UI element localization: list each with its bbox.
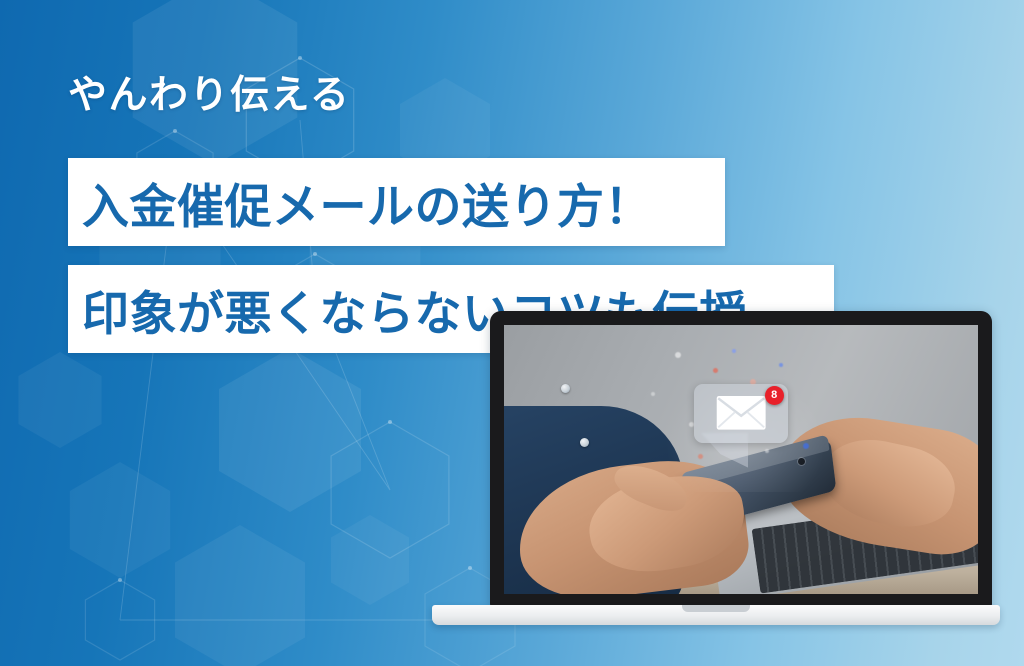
photo-bokeh-dot bbox=[732, 349, 736, 353]
hero-subtitle: やんわり伝える bbox=[68, 74, 350, 119]
hexagon-shape bbox=[331, 515, 409, 605]
photo-bokeh-dot bbox=[765, 449, 769, 453]
hexagon-shape bbox=[219, 348, 361, 512]
photo-bokeh-dot bbox=[803, 443, 809, 449]
hero-title-line-1: 入金催促メールの送り方！ bbox=[68, 168, 652, 237]
laptop-base bbox=[432, 605, 1000, 625]
hexagon-shape bbox=[18, 352, 101, 448]
title-band-1: 入金催促メールの送り方！ bbox=[68, 158, 725, 246]
laptop-screen: 8 bbox=[504, 325, 978, 594]
hero-photo: 8 bbox=[504, 325, 978, 594]
hexagon-shape bbox=[70, 462, 170, 578]
laptop-base-notch bbox=[682, 605, 750, 612]
network-node bbox=[298, 56, 302, 60]
network-node bbox=[173, 129, 177, 133]
network-node bbox=[388, 420, 392, 424]
network-node bbox=[118, 578, 122, 582]
hexagon-outline-shape bbox=[85, 580, 154, 660]
hexagon-shape bbox=[175, 525, 305, 666]
photo-bokeh-dot bbox=[713, 368, 718, 373]
laptop-mockup: 8 bbox=[432, 311, 1000, 629]
envelope-icon bbox=[708, 396, 774, 430]
network-node bbox=[313, 252, 317, 256]
photo-shirt-button bbox=[580, 438, 589, 447]
photo-bokeh-dot bbox=[779, 363, 783, 367]
photo-bokeh-dot bbox=[675, 352, 681, 358]
hero-banner: やんわり伝える 入金催促メールの送り方！ 印象が悪くならないコツも伝授 bbox=[0, 0, 1024, 666]
photo-shirt-button bbox=[561, 384, 570, 393]
laptop-lid: 8 bbox=[490, 311, 992, 607]
notification-badge: 8 bbox=[765, 386, 784, 405]
